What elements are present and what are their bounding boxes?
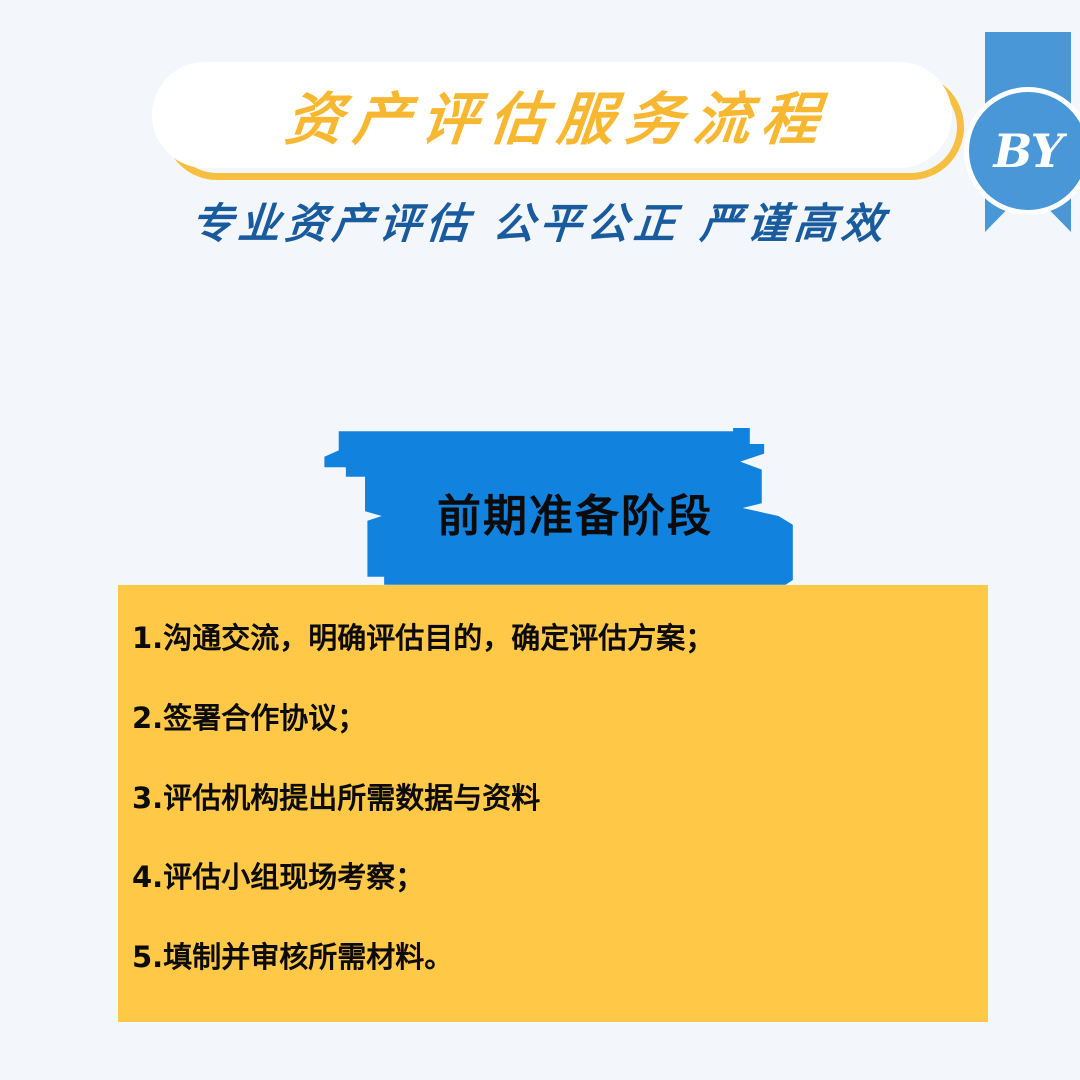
step-list: 1.沟通交流，明确评估目的，确定评估方案； 2.签署合作协议； 3.评估机构提出…	[132, 621, 958, 975]
stage-title: 前期准备阶段	[322, 480, 800, 544]
list-item: 4.评估小组现场考察；	[132, 860, 958, 895]
title-pill: 资产评估服务流程	[152, 62, 952, 168]
list-item: 3.评估机构提出所需数据与资料	[132, 781, 958, 816]
stage-content-card: 1.沟通交流，明确评估目的，确定评估方案； 2.签署合作协议； 3.评估机构提出…	[118, 585, 988, 1022]
page-title: 资产评估服务流程	[270, 74, 834, 156]
stage-banner: 前期准备阶段	[322, 428, 800, 588]
page-subtitle: 专业资产评估 公平公正 严谨高效	[0, 190, 1080, 251]
list-item: 5.填制并审核所需材料。	[132, 940, 958, 975]
poster-canvas: 资产评估服务流程 BY 专业资产评估 公平公正 严谨高效 前期准备阶段 1.沟通…	[0, 0, 1080, 1080]
list-item: 1.沟通交流，明确评估目的，确定评估方案；	[132, 621, 958, 656]
list-item: 2.签署合作协议；	[132, 701, 958, 736]
title-banner: 资产评估服务流程	[152, 62, 952, 168]
brand-monogram: BY	[994, 124, 1063, 178]
